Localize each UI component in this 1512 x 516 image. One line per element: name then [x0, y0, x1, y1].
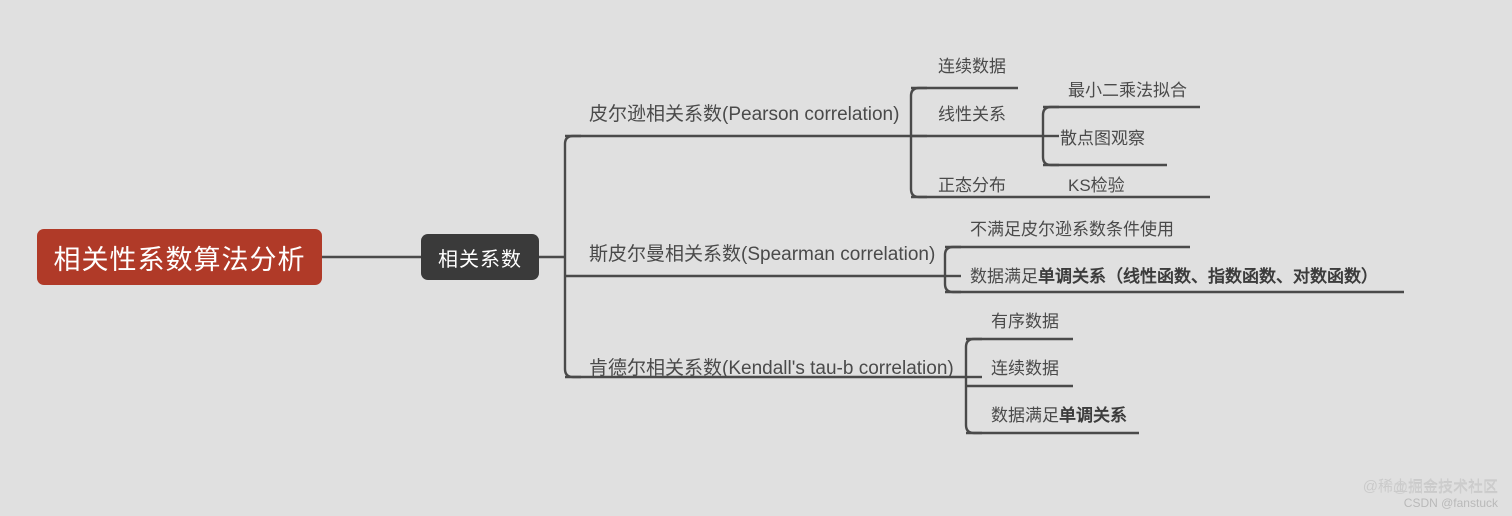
monotonic-spearman-plain: 数据满足	[970, 267, 1038, 286]
node-label-spearman-monotonic[interactable]: 数据满足单调关系（线性函数、指数函数、对数函数）	[970, 268, 1378, 285]
spearman-children-bracket	[945, 247, 961, 292]
node-label-pearson-normal-distribution[interactable]: 正态分布	[938, 177, 1006, 194]
monotonic-spearman-bold: 单调关系（线性函数、指数函数、对数函数）	[1038, 267, 1378, 286]
node-label-kendall-monotonic[interactable]: 数据满足单调关系	[991, 407, 1127, 424]
pearson-children-bracket	[911, 88, 927, 197]
branch-label-spearman[interactable]: 斯皮尔曼相关系数(Spearman correlation)	[589, 245, 935, 264]
main-branch-bracket	[565, 136, 581, 377]
branch-label-kendall[interactable]: 肯德尔相关系数(Kendall's tau-b correlation)	[589, 359, 954, 378]
monotonic-kendall-bold: 单调关系	[1059, 406, 1127, 425]
monotonic-kendall-plain: 数据满足	[991, 406, 1059, 425]
node-label-scatter-plot-observation[interactable]: 散点图观察	[1060, 130, 1145, 147]
level1-node-correlation-coefficient[interactable]: 相关系数	[421, 234, 539, 280]
node-label-kendall-ordered-data[interactable]: 有序数据	[991, 313, 1059, 330]
node-label-spearman-condition[interactable]: 不满足皮尔逊系数条件使用	[970, 221, 1174, 238]
root-node-label: 相关性系数算法分析	[54, 238, 306, 277]
node-label-pearson-continuous-data[interactable]: 连续数据	[938, 58, 1006, 75]
level1-node-label: 相关系数	[438, 243, 522, 272]
node-label-kendall-continuous-data[interactable]: 连续数据	[991, 360, 1059, 377]
root-node[interactable]: 相关性系数算法分析	[37, 229, 322, 285]
branch-label-pearson[interactable]: 皮尔逊相关系数(Pearson correlation)	[589, 105, 899, 124]
node-label-least-squares-fit[interactable]: 最小二乘法拟合	[1068, 82, 1187, 99]
node-label-ks-test[interactable]: KS检验	[1068, 177, 1125, 194]
node-label-pearson-linear-relation[interactable]: 线性关系	[938, 106, 1006, 123]
